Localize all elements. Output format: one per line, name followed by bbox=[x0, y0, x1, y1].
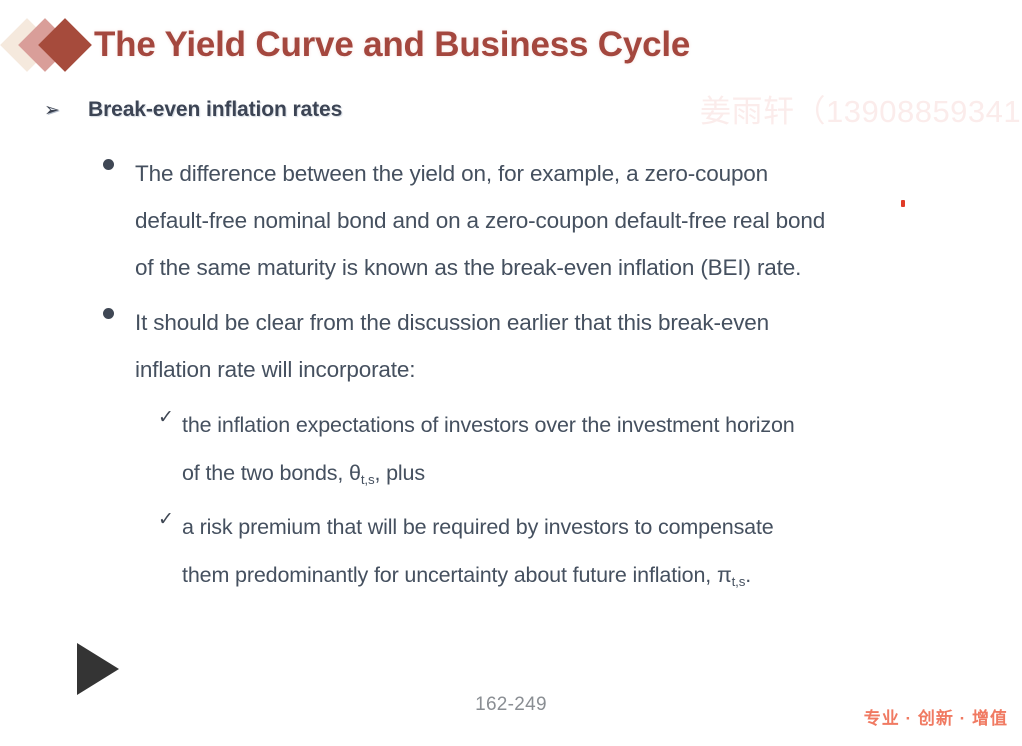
diamond-ornament-icon bbox=[6, 16, 92, 74]
play-triangle-icon[interactable] bbox=[77, 643, 119, 695]
slide-canvas: The Yield Curve and Business Cycle 姜雨轩（1… bbox=[0, 0, 1022, 746]
sub-bullet-line-suffix: . bbox=[745, 563, 751, 587]
pi-subscript: t,s bbox=[732, 574, 746, 589]
sub-bullet-line: a risk premium that will be required by … bbox=[182, 515, 774, 539]
theta-symbol: θ bbox=[349, 461, 361, 485]
bullet-item: The difference between the yield on, for… bbox=[103, 150, 983, 291]
bullet-line: It should be clear from the discussion e… bbox=[135, 310, 769, 335]
bullet-line: The difference between the yield on, for… bbox=[135, 161, 768, 186]
sub-bullet-line-prefix: them predominantly for uncertainty about… bbox=[182, 563, 717, 587]
footer-brand-label: 专业 · 创新 · 增值 bbox=[864, 704, 1008, 729]
bullet-text: It should be clear from the discussion e… bbox=[135, 299, 769, 393]
sub-bullet-line: them predominantly for uncertainty about… bbox=[182, 551, 751, 599]
sub-bullet-line-suffix: , plus bbox=[374, 461, 425, 485]
slide-title-row: The Yield Curve and Business Cycle bbox=[0, 14, 690, 76]
pi-symbol: π bbox=[717, 563, 732, 587]
sub-bullet-item: ✓ a risk premium that will be required b… bbox=[158, 503, 988, 599]
watermark-text: 姜雨轩（13908859341 bbox=[700, 86, 1021, 131]
sub-bullet-line-prefix: of the two bonds, bbox=[182, 461, 349, 485]
section-heading-label: Break-even inflation rates bbox=[88, 98, 342, 122]
page-title: The Yield Curve and Business Cycle bbox=[94, 25, 690, 65]
sub-bullet-line: the inflation expectations of investors … bbox=[182, 413, 795, 437]
bullet-text: The difference between the yield on, for… bbox=[135, 150, 825, 291]
section-heading: ➢ Break-even inflation rates bbox=[44, 98, 342, 122]
sub-bullet-line: of the two bonds, θt,s, plus bbox=[182, 449, 425, 497]
check-bullet-icon: ✓ bbox=[158, 401, 182, 433]
bullet-line: inflation rate will incorporate: bbox=[135, 357, 415, 382]
bullet-item: It should be clear from the discussion e… bbox=[103, 299, 983, 393]
sub-bullet-item: ✓ the inflation expectations of investor… bbox=[158, 401, 988, 497]
theta-subscript: t,s bbox=[361, 472, 375, 487]
sub-bullet-text: a risk premium that will be required by … bbox=[182, 503, 774, 599]
bullet-line: default-free nominal bond and on a zero-… bbox=[135, 208, 825, 233]
bullet-line: of the same maturity is known as the bre… bbox=[135, 255, 801, 280]
sub-bullet-text: the inflation expectations of investors … bbox=[182, 401, 795, 497]
dot-bullet-icon bbox=[103, 150, 135, 170]
check-bullet-icon: ✓ bbox=[158, 503, 182, 535]
arrow-bullet-icon: ➢ bbox=[44, 101, 88, 120]
dot-bullet-icon bbox=[103, 299, 135, 319]
